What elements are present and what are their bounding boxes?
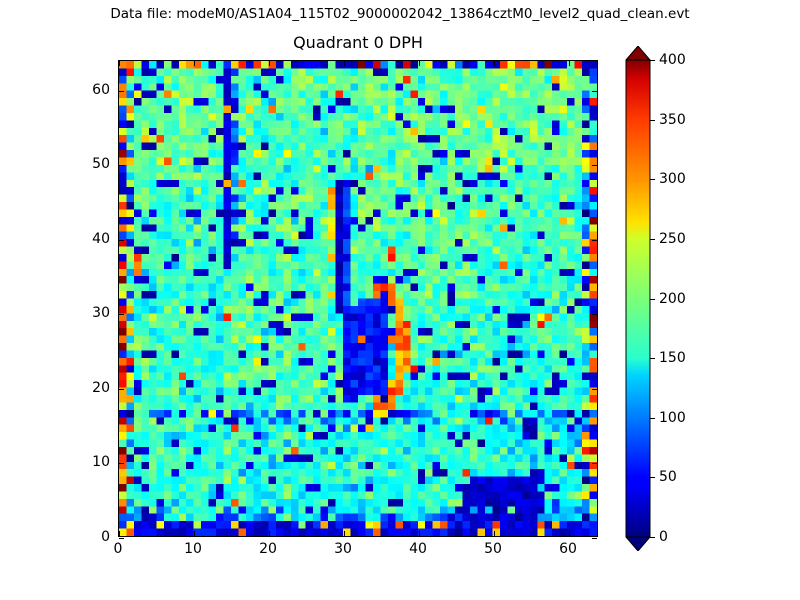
colorbar-tick-label: 350 bbox=[659, 112, 686, 128]
y-tick-mark bbox=[592, 389, 597, 390]
y-tick-mark bbox=[119, 463, 124, 464]
y-tick-mark bbox=[592, 240, 597, 241]
colorbar-tick-mark bbox=[650, 358, 655, 359]
x-tick-mark bbox=[269, 61, 270, 66]
colorbar-tick-label: 50 bbox=[659, 469, 677, 485]
y-tick-mark bbox=[592, 538, 597, 539]
y-tick-mark bbox=[592, 463, 597, 464]
x-tick-mark bbox=[419, 61, 420, 66]
plot-title: Quadrant 0 DPH bbox=[118, 33, 598, 52]
colorbar-tick-mark bbox=[650, 537, 655, 538]
x-tick-mark bbox=[269, 531, 270, 536]
x-tick-label: 30 bbox=[334, 541, 352, 557]
colorbar: 050100150200250300350400 bbox=[626, 60, 650, 537]
y-tick-mark bbox=[119, 389, 124, 390]
x-tick-mark bbox=[569, 61, 570, 66]
y-tick-mark bbox=[119, 91, 124, 92]
y-tick-mark bbox=[119, 538, 124, 539]
colorbar-tick-mark bbox=[650, 299, 655, 300]
x-tick-label: 0 bbox=[114, 541, 123, 557]
x-tick-mark bbox=[194, 531, 195, 536]
x-tick-mark bbox=[119, 61, 120, 66]
figure-canvas: Data file: modeM0/AS1A04_115T02_90000020… bbox=[0, 0, 800, 600]
x-tick-mark bbox=[569, 531, 570, 536]
x-tick-mark bbox=[344, 61, 345, 66]
x-tick-mark bbox=[419, 531, 420, 536]
colorbar-tick-mark bbox=[650, 418, 655, 419]
colorbar-tick-label: 0 bbox=[659, 529, 668, 545]
colorbar-tick-label: 400 bbox=[659, 52, 686, 68]
y-tick-mark bbox=[592, 314, 597, 315]
x-tick-mark bbox=[494, 61, 495, 66]
y-tick-mark bbox=[119, 165, 124, 166]
x-tick-label: 60 bbox=[559, 541, 577, 557]
colorbar-tick-label: 100 bbox=[659, 410, 686, 426]
y-tick-mark bbox=[592, 91, 597, 92]
colorbar-tick-label: 250 bbox=[659, 231, 686, 247]
y-tick-mark bbox=[119, 240, 124, 241]
x-tick-mark bbox=[119, 531, 120, 536]
x-tick-label: 20 bbox=[259, 541, 277, 557]
x-tick-mark bbox=[344, 531, 345, 536]
x-tick-mark bbox=[494, 531, 495, 536]
colorbar-tick-label: 150 bbox=[659, 350, 686, 366]
colorbar-tick-mark bbox=[650, 120, 655, 121]
colorbar-tick-mark bbox=[650, 477, 655, 478]
y-tick-mark bbox=[592, 165, 597, 166]
colorbar-tick-label: 200 bbox=[659, 291, 686, 307]
data-file-suptitle: Data file: modeM0/AS1A04_115T02_90000020… bbox=[0, 6, 800, 22]
dph-heatmap-image bbox=[119, 61, 597, 536]
heatmap-axes[interactable] bbox=[118, 60, 598, 537]
colorbar-tick-mark bbox=[650, 179, 655, 180]
x-tick-label: 40 bbox=[409, 541, 427, 557]
x-tick-mark bbox=[194, 61, 195, 66]
x-tick-label: 10 bbox=[184, 541, 202, 557]
colorbar-tick-mark bbox=[650, 239, 655, 240]
y-tick-mark bbox=[119, 314, 124, 315]
colorbar-tick-label: 300 bbox=[659, 171, 686, 187]
x-tick-label: 50 bbox=[484, 541, 502, 557]
colorbar-tick-mark bbox=[650, 60, 655, 61]
